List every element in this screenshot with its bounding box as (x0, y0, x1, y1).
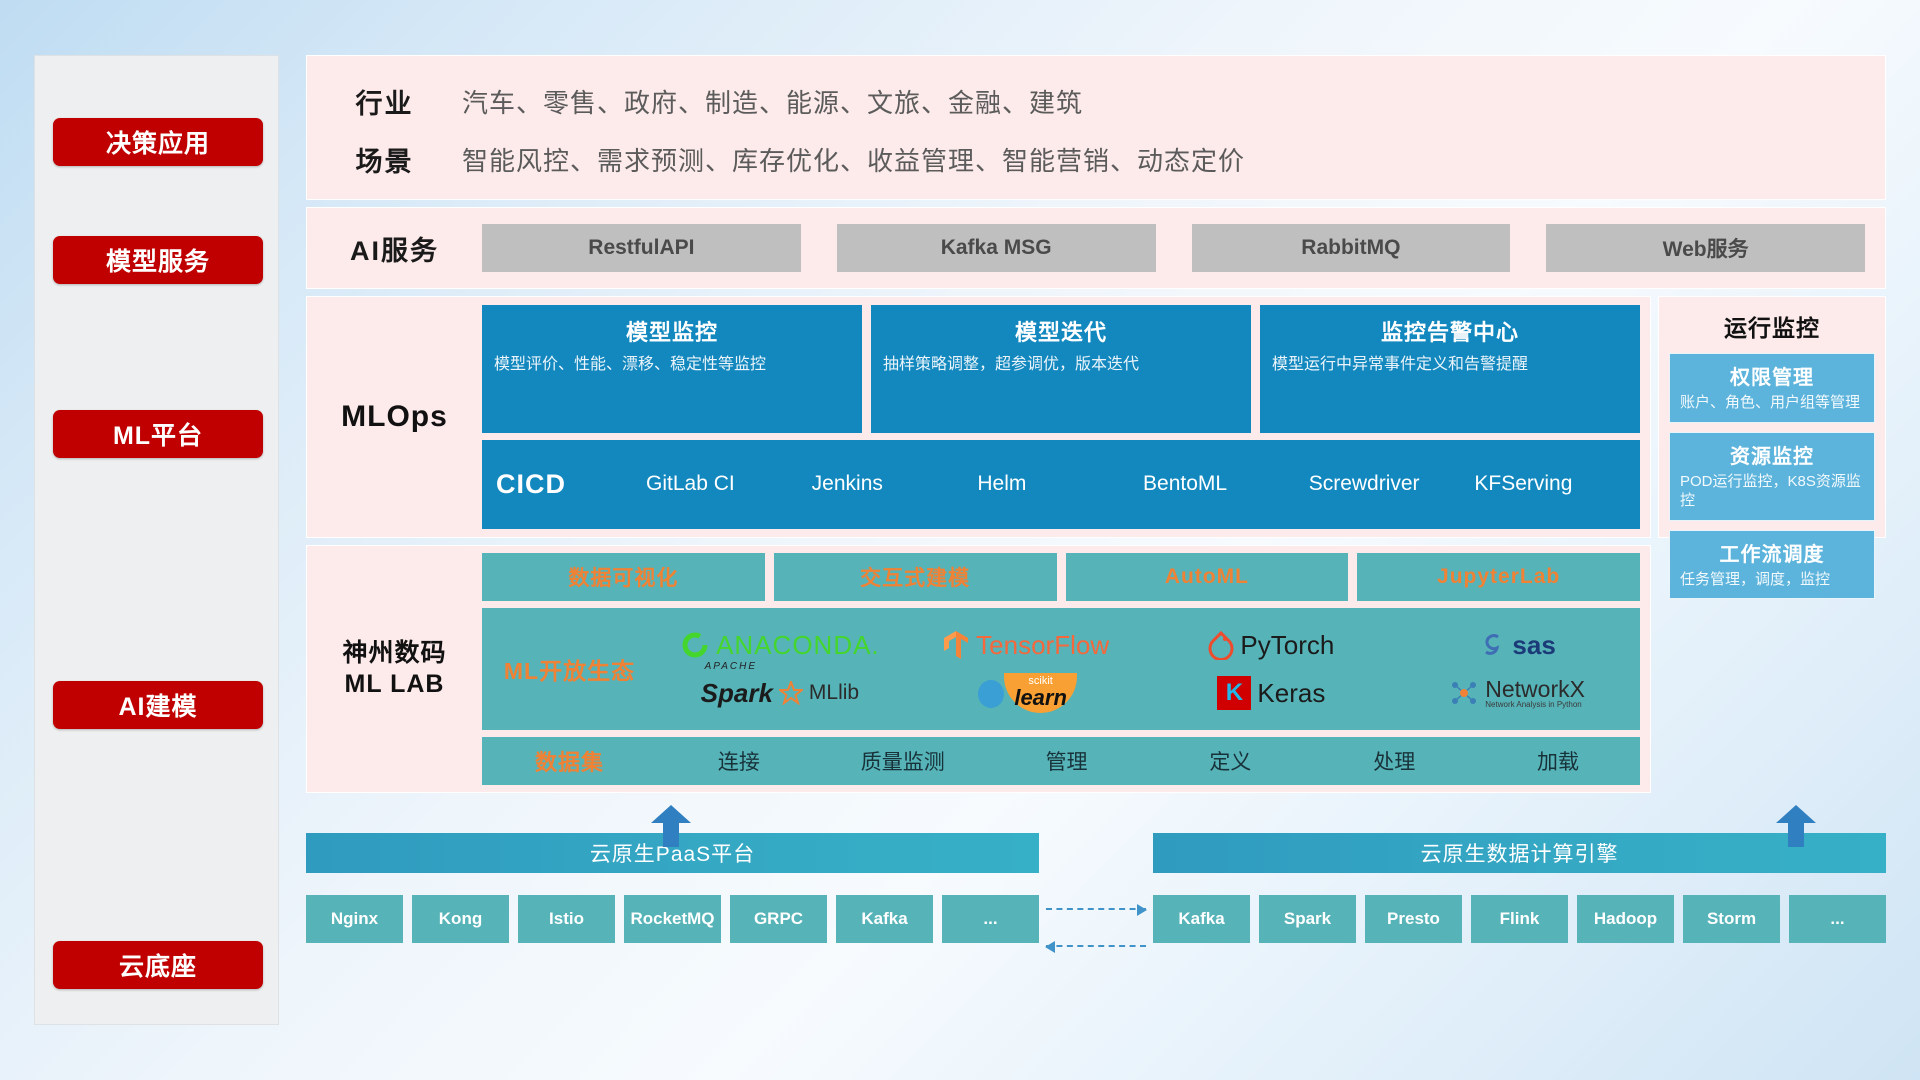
mlops-row: MLOps 模型监控 模型评价、性能、漂移、稳定性等监控 模型迭代 抽样策略调整… (306, 296, 1886, 545)
dataset-item-connect[interactable]: 连接 (657, 746, 821, 776)
networkx-logo: NetworkX Network Analysis in Python (1394, 669, 1640, 717)
scenario-value: 智能风控、需求预测、库存优化、收益管理、智能营销、动态定价 (462, 141, 1245, 178)
rail-chip-model-service[interactable]: 模型服务 (53, 236, 263, 284)
rail-chip-ml-platform[interactable]: ML平台 (53, 410, 263, 458)
paas-chip-kafka[interactable]: Kafka (836, 895, 933, 943)
pytorch-flame-icon (1208, 630, 1234, 660)
paas-column: 云原生PaaS平台 Nginx Kong Istio RocketMQ GRPC… (306, 833, 1039, 943)
mllab-content: 数据可视化 交互式建模 AutoML JupyterLab ML开放生态 (482, 553, 1640, 785)
monitor-card-resource[interactable]: 资源监控 POD运行监控，K8S资源监控 (1669, 432, 1875, 521)
rail-chip-ai-modeling[interactable]: AI建模 (53, 681, 263, 729)
mllab-tools: 数据可视化 交互式建模 AutoML JupyterLab (482, 553, 1640, 601)
ai-service-items: RestfulAPI Kafka MSG RabbitMQ Web服务 (482, 224, 1885, 272)
keras-badge-icon: K (1217, 676, 1251, 710)
engine-chip-presto[interactable]: Presto (1365, 895, 1462, 943)
scikit-learn-logo: scikit learn (903, 669, 1149, 717)
ml-ecosystem-bar: ML开放生态 ANACONDA. (482, 608, 1640, 730)
connector-arrow-left (1046, 945, 1146, 947)
ai-service-chip-rabbitmq[interactable]: RabbitMQ (1192, 224, 1511, 272)
mlops-card-model-iteration[interactable]: 模型迭代 抽样策略调整，超参调优，版本迭代 (871, 305, 1251, 433)
dataset-item-process[interactable]: 处理 (1312, 746, 1476, 776)
ai-service-key: AI服务 (307, 229, 482, 268)
pytorch-wordmark: PyTorch (1240, 630, 1334, 661)
ai-service-chip-restfulapi[interactable]: RestfulAPI (482, 224, 801, 272)
card-desc: 账户、角色、用户组等管理 (1680, 393, 1864, 413)
tensorflow-mark-icon (942, 629, 970, 661)
mllib-wordmark: MLlib (809, 681, 859, 705)
anaconda-wordmark: ANACONDA. (716, 630, 880, 661)
dataset-item-quality-monitor[interactable]: 质量监测 (821, 746, 985, 776)
tensorflow-wordmark: TensorFlow (976, 630, 1109, 661)
mllab-key-line1: 神州数码 (307, 638, 482, 669)
rail-chip-label: 决策应用 (106, 124, 210, 160)
cloud-base-columns: 云原生PaaS平台 Nginx Kong Istio RocketMQ GRPC… (306, 833, 1886, 943)
scenario-key: 场景 (307, 140, 462, 179)
industry-row: 行业 汽车、零售、政府、制造、能源、文旅、金融、建筑 (307, 72, 1885, 130)
mllab-key-line2: ML LAB (307, 669, 482, 700)
learn-wordmark: learn (1014, 687, 1067, 709)
monitor-card-workflow[interactable]: 工作流调度 任务管理，调度，监控 (1669, 530, 1875, 600)
paas-chip-nginx[interactable]: Nginx (306, 895, 403, 943)
cicd-bar: CICD GitLab CI Jenkins Helm BentoML Scre… (482, 440, 1640, 529)
data-engine-column: 云原生数据计算引擎 Kafka Spark Presto Flink Hadoo… (1153, 833, 1886, 943)
card-desc: POD运行监控，K8S资源监控 (1680, 472, 1864, 511)
networkx-wordmark: NetworkX (1485, 677, 1585, 701)
connector-arrow-right (1046, 908, 1146, 910)
mlops-content: 模型监控 模型评价、性能、漂移、稳定性等监控 模型迭代 抽样策略调整，超参调优，… (482, 305, 1640, 529)
mllab-tool-automl[interactable]: AutoML (1066, 553, 1349, 601)
rail-chip-label: ML平台 (113, 416, 203, 452)
main-stack: 行业 汽车、零售、政府、制造、能源、文旅、金融、建筑 场景 智能风控、需求预测、… (306, 55, 1886, 800)
paas-chip-more[interactable]: ... (942, 895, 1039, 943)
dataset-label: 数据集 (482, 745, 657, 777)
ml-ecosystem-label: ML开放生态 (482, 652, 657, 686)
tensorflow-logo: TensorFlow (903, 621, 1149, 669)
cicd-item-screwdriver[interactable]: Screwdriver (1309, 473, 1475, 495)
mlops-cards: 模型监控 模型评价、性能、漂移、稳定性等监控 模型迭代 抽样策略调整，超参调优，… (482, 305, 1640, 433)
card-title: 资源监控 (1680, 440, 1864, 469)
paas-chip-rocketmq[interactable]: RocketMQ (624, 895, 721, 943)
anaconda-ring-icon (680, 630, 710, 660)
mlops-key: MLOps (307, 400, 482, 434)
cicd-label: CICD (496, 469, 646, 500)
dataset-item-manage[interactable]: 管理 (985, 746, 1149, 776)
spark-star-icon (779, 681, 803, 705)
mlops-card-model-monitoring[interactable]: 模型监控 模型评价、性能、漂移、稳定性等监控 (482, 305, 862, 433)
ml-ecosystem-logos: ANACONDA. TensorFlow (657, 621, 1640, 717)
networkx-tagline: Network Analysis in Python (1485, 701, 1585, 709)
pytorch-logo: PyTorch (1149, 621, 1395, 669)
mllab-tool-data-visualization[interactable]: 数据可视化 (482, 553, 765, 601)
paas-up-arrow-icon (651, 805, 691, 847)
rail-chip-label: 模型服务 (106, 242, 210, 278)
layer-label-rail: 决策应用 模型服务 ML平台 AI建模 云底座 (34, 55, 279, 1025)
rail-chip-label: 云底座 (119, 947, 197, 983)
rail-chip-label: AI建模 (118, 687, 197, 723)
scikit-blob-icon (974, 676, 1008, 710)
sas-wordmark: sas (1512, 630, 1555, 661)
sas-mark-icon (1478, 631, 1506, 659)
card-desc: 模型评价、性能、漂移、稳定性等监控 (494, 354, 850, 376)
engine-chip-kafka[interactable]: Kafka (1153, 895, 1250, 943)
engine-chip-storm[interactable]: Storm (1683, 895, 1780, 943)
keras-logo: K Keras (1149, 669, 1395, 717)
paas-chip-istio[interactable]: Istio (518, 895, 615, 943)
networkx-graph-icon (1449, 678, 1479, 708)
cicd-item-gitlab-ci[interactable]: GitLab CI (646, 473, 812, 495)
keras-wordmark: Keras (1257, 678, 1325, 709)
industry-value: 汽车、零售、政府、制造、能源、文旅、金融、建筑 (462, 83, 1083, 120)
sas-logo: sas (1394, 621, 1640, 669)
runtime-monitoring-panel: 运行监控 权限管理 账户、角色、用户组等管理 资源监控 POD运行监控，K8S资… (1658, 296, 1886, 538)
apache-tag: APACHE (705, 661, 757, 672)
mllab-tool-interactive-modeling[interactable]: 交互式建模 (774, 553, 1057, 601)
cicd-item-kfserving[interactable]: KFServing (1474, 473, 1640, 495)
anaconda-logo: ANACONDA. (657, 621, 903, 669)
card-desc: 模型运行中异常事件定义和告警提醒 (1272, 354, 1628, 376)
decision-apps-band: 行业 汽车、零售、政府、制造、能源、文旅、金融、建筑 场景 智能风控、需求预测、… (306, 55, 1886, 200)
mllab-band: 神州数码 ML LAB 数据可视化 交互式建模 AutoML JupyterLa… (306, 545, 1651, 793)
monitor-card-permission[interactable]: 权限管理 账户、角色、用户组等管理 (1669, 353, 1875, 423)
ai-service-chip-kafka-msg[interactable]: Kafka MSG (837, 224, 1156, 272)
dataset-item-load[interactable]: 加载 (1476, 746, 1640, 776)
engine-chip-more[interactable]: ... (1789, 895, 1886, 943)
dataset-bar: 数据集 连接 质量监测 管理 定义 处理 加载 (482, 737, 1640, 785)
rail-chip-cloud-base[interactable]: 云底座 (53, 941, 263, 989)
cicd-item-bentoml[interactable]: BentoML (1143, 473, 1309, 495)
mllab-tool-jupyterlab[interactable]: JupyterLab (1357, 553, 1640, 601)
mlops-band: MLOps 模型监控 模型评价、性能、漂移、稳定性等监控 模型迭代 抽样策略调整… (306, 296, 1651, 538)
cicd-item-jenkins[interactable]: Jenkins (812, 473, 978, 495)
paas-chip-grpc[interactable]: GRPC (730, 895, 827, 943)
architecture-diagram: 决策应用 模型服务 ML平台 AI建模 云底座 行业 汽车、零售、政府、制造、能… (0, 0, 1920, 1080)
data-engine-up-arrow-icon (1776, 805, 1816, 847)
paas-chip-kong[interactable]: Kong (412, 895, 509, 943)
mllab-key: 神州数码 ML LAB (307, 638, 482, 701)
industry-key: 行业 (307, 82, 462, 121)
cloud-base-section: 云原生PaaS平台 Nginx Kong Istio RocketMQ GRPC… (306, 833, 1886, 943)
runtime-monitoring-title: 运行监控 (1669, 309, 1875, 343)
engine-chip-spark[interactable]: Spark (1259, 895, 1356, 943)
cicd-items: GitLab CI Jenkins Helm BentoML Screwdriv… (646, 473, 1640, 495)
card-title: 权限管理 (1680, 361, 1864, 390)
card-desc: 抽样策略调整，超参调优，版本迭代 (883, 354, 1239, 376)
dataset-item-define[interactable]: 定义 (1148, 746, 1312, 776)
spark-wordmark: Spark (701, 678, 773, 708)
card-title: 模型监控 (494, 315, 850, 347)
spark-mllib-logo: APACHE Spark MLlib (657, 669, 903, 717)
card-title: 工作流调度 (1680, 538, 1864, 567)
engine-chip-hadoop[interactable]: Hadoop (1577, 895, 1674, 943)
mlops-card-alert-center[interactable]: 监控告警中心 模型运行中异常事件定义和告警提醒 (1260, 305, 1640, 433)
card-title: 监控告警中心 (1272, 315, 1628, 347)
dataset-items: 连接 质量监测 管理 定义 处理 加载 (657, 746, 1640, 776)
ai-service-band: AI服务 RestfulAPI Kafka MSG RabbitMQ Web服务 (306, 207, 1886, 289)
cloud-base-connector-gap (1039, 833, 1153, 943)
mllab-row: 神州数码 ML LAB 数据可视化 交互式建模 AutoML JupyterLa… (306, 545, 1886, 800)
scenario-row: 场景 智能风控、需求预测、库存优化、收益管理、智能营销、动态定价 (307, 130, 1885, 188)
cicd-item-helm[interactable]: Helm (977, 473, 1143, 495)
rail-chip-decision-apps[interactable]: 决策应用 (53, 118, 263, 166)
paas-chips: Nginx Kong Istio RocketMQ GRPC Kafka ... (306, 895, 1039, 943)
ai-service-chip-web-service[interactable]: Web服务 (1546, 224, 1865, 272)
card-desc: 任务管理，调度，监控 (1680, 570, 1864, 590)
data-engine-chips: Kafka Spark Presto Flink Hadoop Storm ..… (1153, 895, 1886, 943)
card-title: 模型迭代 (883, 315, 1239, 347)
engine-chip-flink[interactable]: Flink (1471, 895, 1568, 943)
